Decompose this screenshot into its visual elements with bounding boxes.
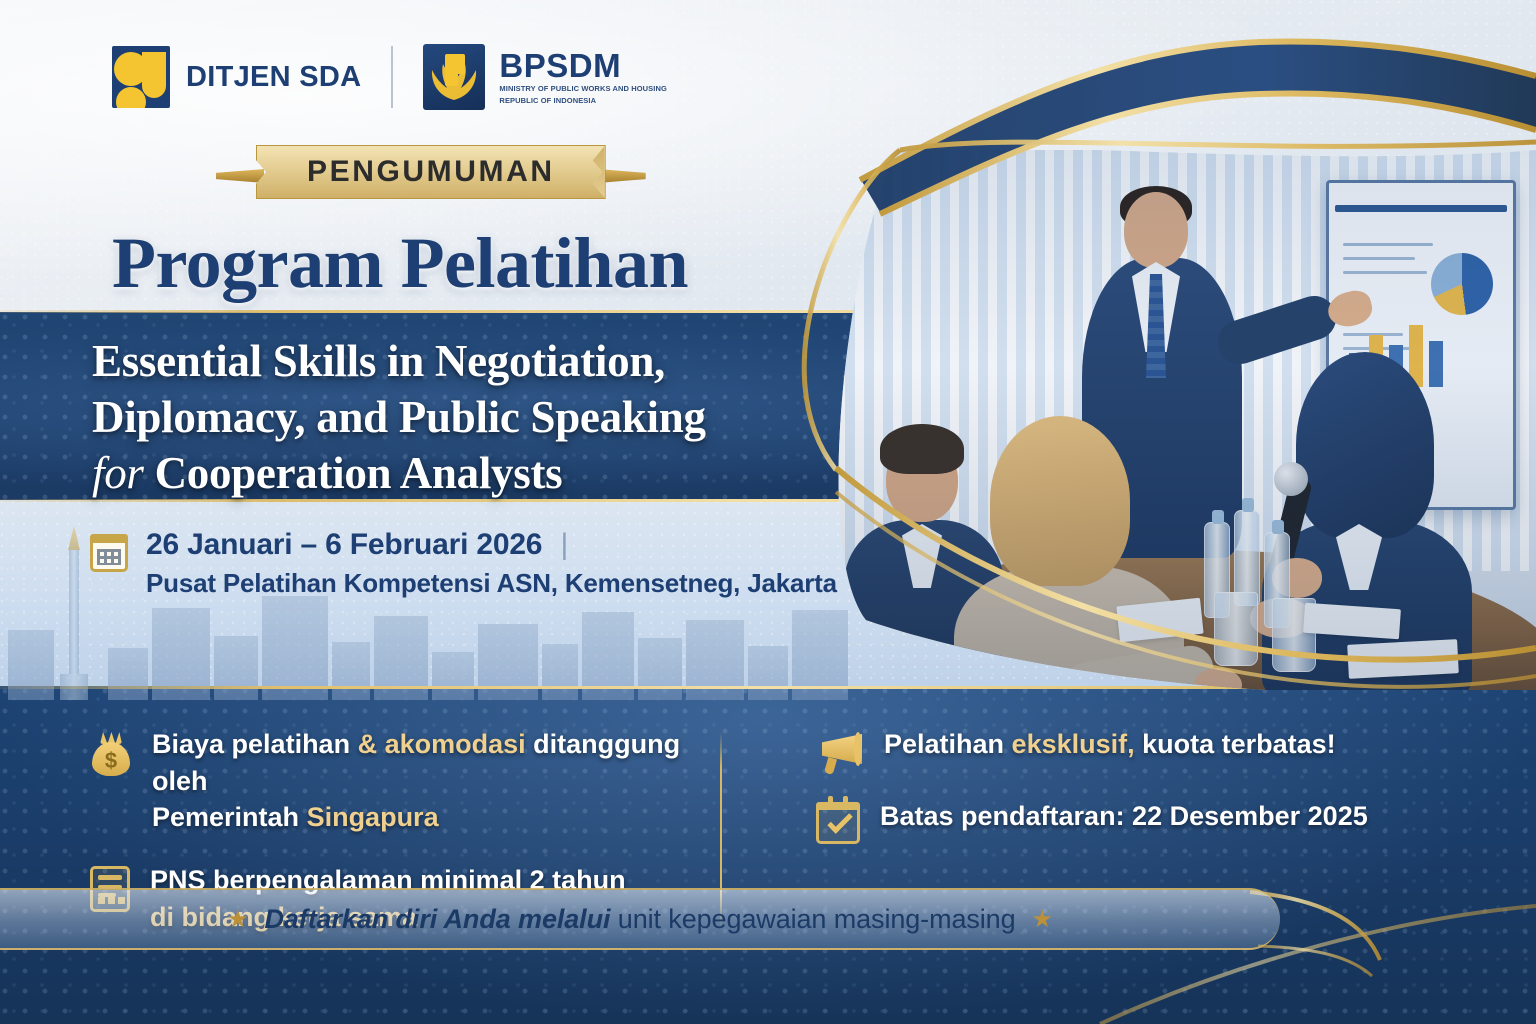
info-item-funding-text: Biaya pelatihan & akomodasi ditanggung o… — [152, 726, 720, 836]
subtitle-line-2: Diplomacy, and Public Speaking — [92, 390, 852, 446]
subtitle-audience: Cooperation Analysts — [155, 448, 563, 498]
calendar-check-icon — [816, 802, 860, 844]
txt-seg: Pelatihan — [884, 729, 1012, 759]
logo-bar: DITJEN SDA BPSDM MINISTRY OF PUBLIC WORK… — [112, 44, 667, 110]
info-item-deadline: Batas pendaftaran: 22 Desember 2025 — [816, 798, 1446, 844]
info-item-deadline-text: Batas pendaftaran: 22 Desember 2025 — [880, 798, 1368, 835]
subtitle-line-1: Essential Skills in Negotiation, — [92, 334, 852, 390]
info-item-funding: $ Biaya pelatihan & akomodasi ditanggung… — [90, 726, 720, 836]
txt-seg: Pemerintah — [152, 802, 307, 832]
logo-bpsdm-label: BPSDM — [499, 49, 667, 82]
txt-seg-accent: eksklusif, — [1012, 729, 1143, 759]
logo-bpsdm-subtitle-line1: MINISTRY OF PUBLIC WORKS AND HOUSING — [499, 84, 667, 94]
program-subtitle: Essential Skills in Negotiation, Diploma… — [92, 334, 852, 501]
footer-cta-rest: unit kepegawaian masing-masing — [610, 904, 1015, 934]
megaphone-icon — [816, 730, 864, 772]
training-photo — [836, 150, 1536, 690]
txt-seg-accent: Singapura — [307, 802, 439, 832]
info-item-exclusivity-text: Pelatihan eksklusif, kuota terbatas! — [884, 726, 1336, 763]
page-title: Program Pelatihan — [112, 222, 688, 305]
schedule-venue: Pusat Pelatihan Kompetensi ASN, Kemenset… — [146, 568, 837, 599]
flipchart-pie-chart — [1431, 253, 1493, 315]
txt-seg: kuota terbatas! — [1142, 729, 1336, 759]
announcement-label: PENGUMUMAN — [307, 155, 555, 189]
footer-cta-text: Daftarkan diri Anda melalui unit kepegaw… — [264, 904, 1015, 935]
subtitle-for-word: for — [92, 448, 144, 498]
poster: DITJEN SDA BPSDM MINISTRY OF PUBLIC WORK… — [0, 0, 1536, 1024]
logo-ditjen-sda-label: DITJEN SDA — [186, 61, 361, 94]
logo-ditjen-sda: DITJEN SDA — [112, 46, 361, 108]
info-item-exclusivity: Pelatihan eksklusif, kuota terbatas! — [816, 726, 1446, 772]
txt-seg-accent: & akomodasi — [358, 729, 534, 759]
bpsdm-laurel-emblem-icon — [423, 44, 485, 110]
logo-bpsdm: BPSDM MINISTRY OF PUBLIC WORKS AND HOUSI… — [423, 44, 667, 110]
logo-bpsdm-subtitle-line2: REPUBLIC OF INDONESIA — [499, 96, 667, 106]
monas-monument-icon — [60, 510, 88, 700]
announcement-ribbon: PENGUMUMAN — [256, 145, 606, 199]
schedule-date: 26 Januari – 6 Februari 2026 — [146, 528, 542, 561]
footer-cta-emphasis: Daftarkan diri Anda melalui — [264, 904, 610, 934]
star-left-icon: ★ — [227, 905, 248, 934]
schedule-separator: | — [560, 528, 568, 561]
star-right-icon: ★ — [1032, 905, 1053, 934]
logo-divider — [391, 46, 393, 108]
footer-cta: ★ Daftarkan diri Anda melalui unit kepeg… — [0, 888, 1280, 950]
subtitle-line-3: for Cooperation Analysts — [92, 446, 852, 502]
drinking-glass — [1214, 592, 1258, 666]
schedule-block: 26 Januari – 6 Februari 2026 | Pusat Pel… — [90, 528, 837, 599]
calendar-icon — [90, 534, 128, 572]
txt-seg: Biaya pelatihan — [152, 729, 358, 759]
person-participant-seated-center — [940, 416, 1190, 690]
schedule-date-row: 26 Januari – 6 Februari 2026 | — [146, 528, 837, 562]
notepad — [1347, 639, 1459, 679]
money-bag-icon: $ — [90, 730, 132, 776]
sda-logo-mark-icon — [112, 46, 170, 108]
